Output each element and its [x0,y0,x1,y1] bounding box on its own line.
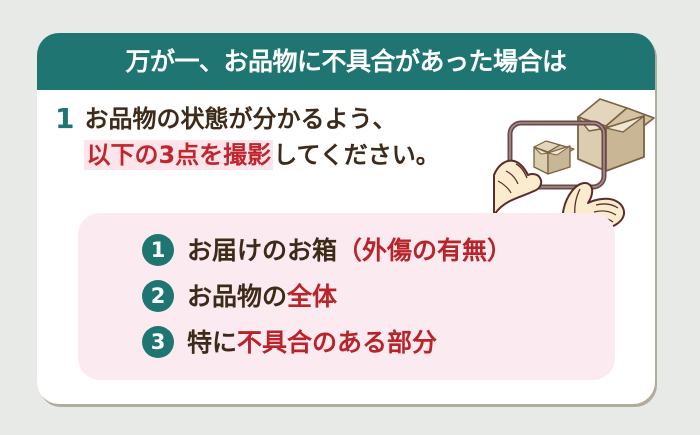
list-item-text-1-accent: （外傷の有無） [337,236,512,265]
list-item-text-1: お届けのお箱（外傷の有無） [187,238,512,263]
list-item-text-2-plain: お品物の [187,282,287,311]
list-item: 1 お届けのお箱（外傷の有無） [78,227,615,273]
step-line-2: 以下の3点を撮影してください。 [84,137,439,173]
list-item-text-2-accent: 全体 [287,282,337,311]
list-item: 3 特に不具合のある部分 [78,319,615,365]
list-item-text-1-plain: お届けのお箱 [187,236,337,265]
cardboard-box-on-screen [534,141,574,174]
step-line-2-rest: してください。 [273,141,440,169]
list-item-text-2: お品物の全体 [187,284,337,309]
step-row: 1 お品物の状態が分かるよう、 以下の3点を撮影してください。 [55,101,525,173]
cardboard-box-subject [578,99,654,171]
info-card: 万が一、お品物に不具合があった場合は 1 お品物の状態が分かるよう、 以下の3点… [37,33,655,404]
header-title: 万が一、お品物に不具合があった場合は [125,49,566,74]
list-item-badge-1: 1 [142,234,174,266]
step-text-lines: お品物の状態が分かるよう、 以下の3点を撮影してください。 [84,101,439,173]
list-item-badge-3: 3 [142,326,174,358]
list-item: 2 お品物の全体 [78,273,615,319]
photo-checklist-panel: 1 お届けのお箱（外傷の有無） 2 お品物の全体 3 特に不具合のある部分 [78,213,615,380]
list-item-text-3-accent: 不具合のある部分 [237,328,437,357]
list-item-text-3: 特に不具合のある部分 [187,330,437,355]
list-item-text-3-plain: 特に [187,328,237,357]
step-line-2-highlight: 以下の3点を撮影 [84,140,273,170]
step-instruction-block: 1 お品物の状態が分かるよう、 以下の3点を撮影してください。 [55,101,525,173]
card-header-bar: 万が一、お品物に不具合があった場合は [37,33,655,90]
screenshot-canvas: 万が一、お品物に不具合があった場合は 1 お品物の状態が分かるよう、 以下の3点… [0,0,700,435]
step-line-1: お品物の状態が分かるよう、 [84,101,439,137]
list-item-badge-2: 2 [142,280,174,312]
step-number: 1 [55,101,74,137]
photo-checklist: 1 お届けのお箱（外傷の有無） 2 お品物の全体 3 特に不具合のある部分 [78,227,615,365]
